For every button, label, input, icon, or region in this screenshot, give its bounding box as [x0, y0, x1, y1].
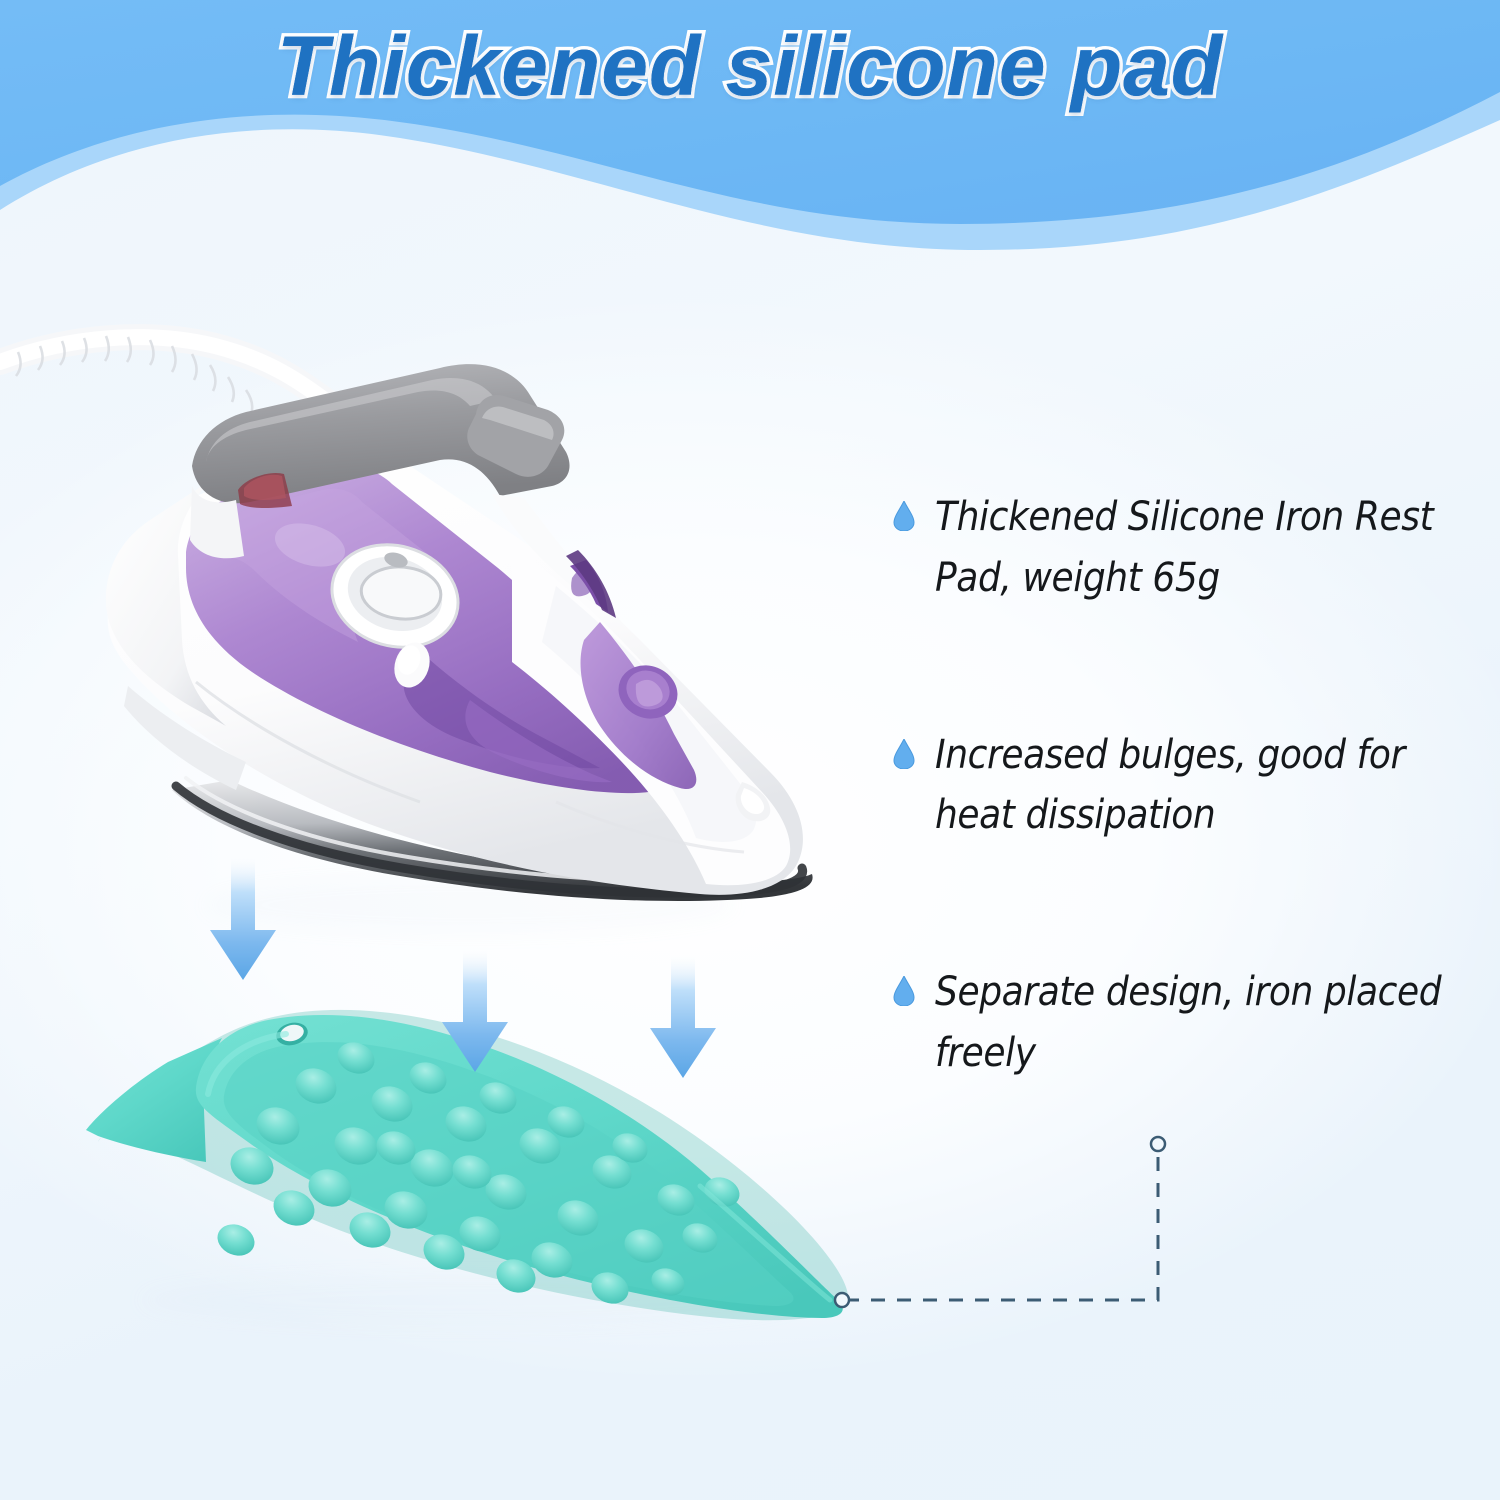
water-drop-icon	[893, 976, 915, 1006]
iron-power-cord	[0, 336, 330, 414]
feature-item-2: Increased bulges, good for heat dissipat…	[893, 725, 1483, 847]
feature-text-2: Increased bulges, good for heat dissipat…	[935, 725, 1483, 847]
water-drop-icon	[893, 739, 915, 769]
water-drop-icon	[893, 501, 915, 531]
callout-endpoint-top	[1151, 1137, 1165, 1151]
callout-dashed-line	[845, 1147, 1158, 1300]
page-title-outline: Thickened silicone pad	[0, 18, 1500, 115]
feature-item-1: Thickened Silicone Iron Rest Pad, weight…	[893, 487, 1483, 609]
down-arrow-icon-1	[206, 858, 280, 982]
feature-list: Thickened Silicone Iron Rest Pad, weight…	[893, 487, 1483, 1084]
down-arrow-icon-3	[646, 956, 720, 1080]
callout-endpoint-left	[835, 1293, 849, 1307]
feature-text-3: Separate design, iron placed freely	[935, 962, 1483, 1084]
down-arrow-icon-2	[438, 950, 512, 1074]
infographic-canvas: Thickened silicone pad Thickened silicon…	[0, 0, 1500, 1500]
steam-iron	[106, 364, 813, 933]
feature-text-1: Thickened Silicone Iron Rest Pad, weight…	[935, 487, 1483, 609]
measurement-callout	[820, 1120, 1240, 1320]
feature-item-3: Separate design, iron placed freely	[893, 962, 1483, 1084]
